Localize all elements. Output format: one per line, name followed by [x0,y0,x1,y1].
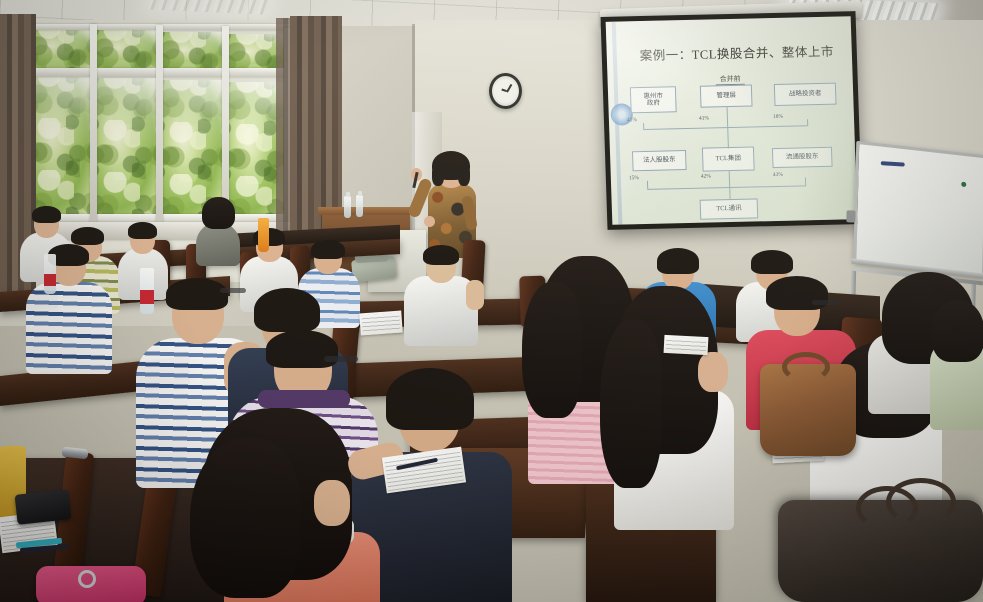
diagram-pct: 15% [629,175,639,181]
bottle-label [44,274,56,286]
student-hair [751,250,793,274]
bottle-label [140,290,154,304]
diagram-connector [727,127,729,149]
diagram-pct: 42% [701,173,711,179]
slide-title: 案例一：TCL换股合并、整体上市 [620,40,853,64]
diagram-connector [643,125,808,130]
diagram-node: 惠州市 政府 [630,86,677,113]
student [196,198,240,260]
window-pane [30,28,92,70]
diagram-node: 战略投资者 [774,83,837,106]
student-torso [26,282,112,374]
window-pane [30,76,92,216]
student-neck [698,352,728,392]
lecturer-hand [424,216,435,227]
water-bottle[interactable] [258,218,269,252]
water-bottle[interactable] [356,195,363,217]
slide-surface: 案例一：TCL换股合并、整体上市 合并前 惠州市 政府 管理层 战略投资者 41… [606,16,858,224]
student-hair [311,240,345,259]
student [930,300,983,420]
window-pane [96,30,158,72]
wall-clock-icon [489,73,522,109]
eyeglasses-icon [324,356,358,362]
window-frame [156,25,163,225]
lecturer-hand [411,168,422,181]
student-neck [314,480,350,526]
diagram-node: TCL通讯 [700,198,759,219]
diagram-connector [647,181,648,189]
student-hair [657,248,699,274]
notebook[interactable] [664,335,709,355]
water-bottle[interactable] [344,196,351,218]
handbag-handle [782,352,830,382]
student-hair [71,227,104,245]
collar [258,390,350,408]
student [26,244,112,364]
diagram-connector [727,107,729,127]
magnet-icon[interactable] [961,182,966,188]
student-hair [190,438,300,598]
diagram-node: TCL集团 [702,146,755,171]
student [600,286,740,516]
student-hair [932,300,983,362]
student-hair [32,206,61,223]
window-frame [90,24,97,224]
projector-screen[interactable]: 案例一：TCL换股合并、整体上市 合并前 惠州市 政府 管理层 战略投资者 41… [600,11,862,230]
whiteboard-surface[interactable] [853,141,983,278]
water-bottle[interactable] [44,254,56,294]
lecturer-hair [458,164,470,186]
student-hair [128,222,157,239]
student-hair [202,197,235,229]
water-bottle[interactable] [140,268,154,314]
diagram-node: 流通股股东 [772,147,833,168]
student-hair [166,278,228,310]
student-hair [522,282,582,418]
classroom-photo: 案例一：TCL换股合并、整体上市 合并前 惠州市 政府 管理层 战略投资者 41… [0,0,983,602]
diagram-pct: 43% [773,172,783,178]
diagram-node: 管理层 [700,85,753,108]
handbag-handle [856,486,918,530]
student-hair [423,245,459,265]
student-hair [266,330,338,368]
smartphone[interactable] [15,489,72,524]
marker-icon[interactable] [881,161,905,166]
pouch-buckle-icon [78,570,96,588]
diagram-connector [805,177,806,185]
lecturer-hair [432,164,444,186]
diagram-connector [647,185,806,190]
student-hair [600,320,662,488]
diagram-connector [729,187,730,199]
eyeglasses-icon [812,300,840,305]
slide-org-diagram: 惠州市 政府 管理层 战略投资者 41% 41% 18% 法人股股东 TCL集团… [620,82,857,223]
student [404,246,478,338]
lectern-top [318,207,414,215]
student-arm [466,280,484,310]
diagram-pct: 41% [627,117,637,123]
diagram-pct: 18% [773,114,783,120]
window-pane [96,78,158,218]
diagram-node: 法人股股东 [632,150,687,171]
diagram-connector [729,171,731,187]
diagram-pct: 41% [699,116,709,122]
student [200,408,400,602]
whiteboard-hinge [846,210,855,222]
student-hair [254,288,320,332]
window-frame [222,26,229,226]
